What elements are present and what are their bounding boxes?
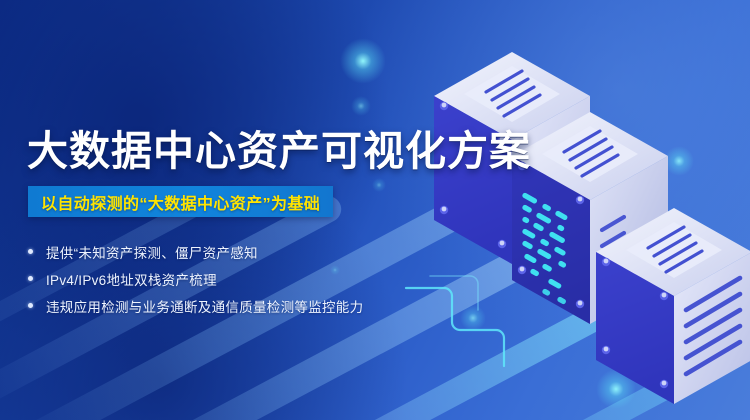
list-item-label: 违规应用检测与业务通断及通信质量检测等监控能力 [46, 296, 363, 316]
subtitle-ribbon: 以自动探测的“大数据中心资产”为基础 [28, 186, 333, 217]
bullet-dot-icon [28, 249, 33, 254]
bullet-dot-icon [28, 303, 33, 308]
list-item: 违规应用检测与业务通断及通信质量检测等监控能力 [28, 292, 363, 319]
list-item-label: IPv4/IPv6地址双栈资产梳理 [46, 269, 217, 289]
list-item-label: 提供“未知资产探测、僵尸资产感知 [46, 242, 258, 262]
list-item: 提供“未知资产探测、僵尸资产感知 [28, 238, 363, 265]
feature-list: 提供“未知资产探测、僵尸资产感知 IPv4/IPv6地址双栈资产梳理 违规应用检… [28, 238, 363, 319]
bullet-dot-icon [28, 276, 33, 281]
subtitle-ribbon-label: 以自动探测的“大数据中心资产”为基础 [41, 190, 320, 214]
banner-stage: 大数据中心资产可视化方案 以自动探测的“大数据中心资产”为基础 提供“未知资产探… [0, 0, 750, 420]
page-title: 大数据中心资产可视化方案 [27, 126, 531, 176]
list-item: IPv4/IPv6地址双栈资产梳理 [28, 265, 363, 292]
banner-copy: 大数据中心资产可视化方案 以自动探测的“大数据中心资产”为基础 提供“未知资产探… [0, 0, 470, 420]
